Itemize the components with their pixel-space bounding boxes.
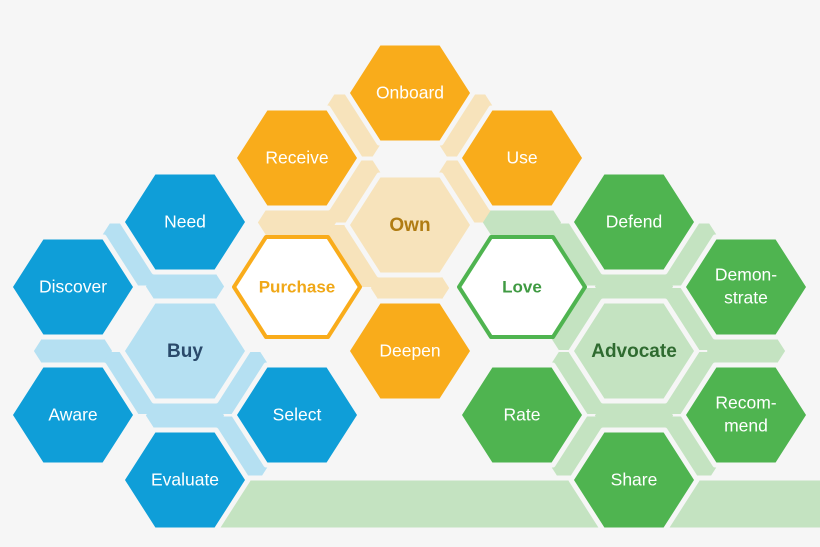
footer-band — [214, 478, 820, 530]
hexagon-diagram-svg: DiscoverNeedAwareBuyEvaluateSelectReceiv… — [0, 0, 820, 547]
footer-band-shape — [214, 478, 820, 530]
hexagon-diagram-canvas: DiscoverNeedAwareBuyEvaluateSelectReceiv… — [0, 0, 820, 547]
